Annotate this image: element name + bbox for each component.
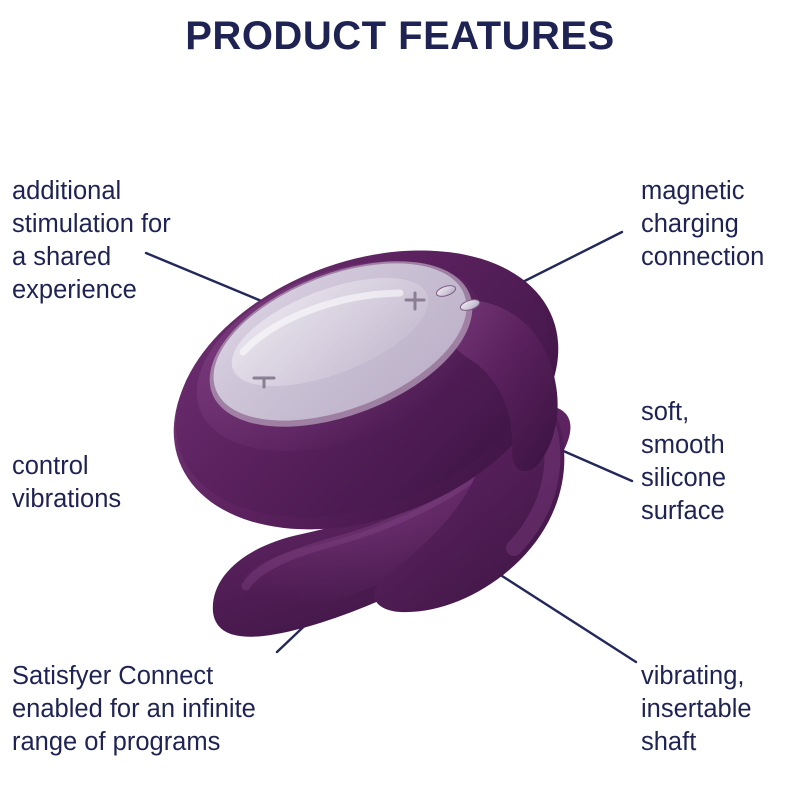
insertable-shaft bbox=[213, 407, 571, 637]
leader-line-control-minus bbox=[264, 381, 292, 472]
page-title: PRODUCT FEATURES bbox=[0, 14, 800, 59]
callout-satisfyer-connect: Satisfyer Connect enabled for an infinit… bbox=[12, 660, 352, 759]
leader-line-vibrating bbox=[443, 538, 636, 662]
callout-additional-stimulation: additional stimulation for a shared expe… bbox=[12, 175, 272, 308]
callout-vibrating-shaft: vibrating, insertable shaft bbox=[641, 660, 800, 759]
magnetic-charging-contact-lower bbox=[459, 298, 481, 313]
leader-line-magnetic bbox=[481, 232, 622, 303]
callout-control-vibrations: control vibrations bbox=[12, 450, 252, 516]
product-features-diagram: PRODUCT FEATURES bbox=[0, 0, 800, 800]
magnetic-charging-contact-upper bbox=[435, 284, 457, 299]
minus-button[interactable] bbox=[254, 378, 274, 387]
body-arm-joint bbox=[439, 300, 558, 472]
callout-soft-smooth-silicone: soft, smooth silicone surface bbox=[641, 396, 800, 529]
leader-line-soft bbox=[536, 439, 632, 481]
curved-arm bbox=[374, 349, 564, 612]
callout-magnetic-charging: magnetic charging connection bbox=[641, 175, 800, 274]
leader-line-satisfyer bbox=[277, 594, 338, 652]
plus-button[interactable] bbox=[406, 293, 424, 309]
leader-line-control-plus bbox=[292, 301, 414, 472]
